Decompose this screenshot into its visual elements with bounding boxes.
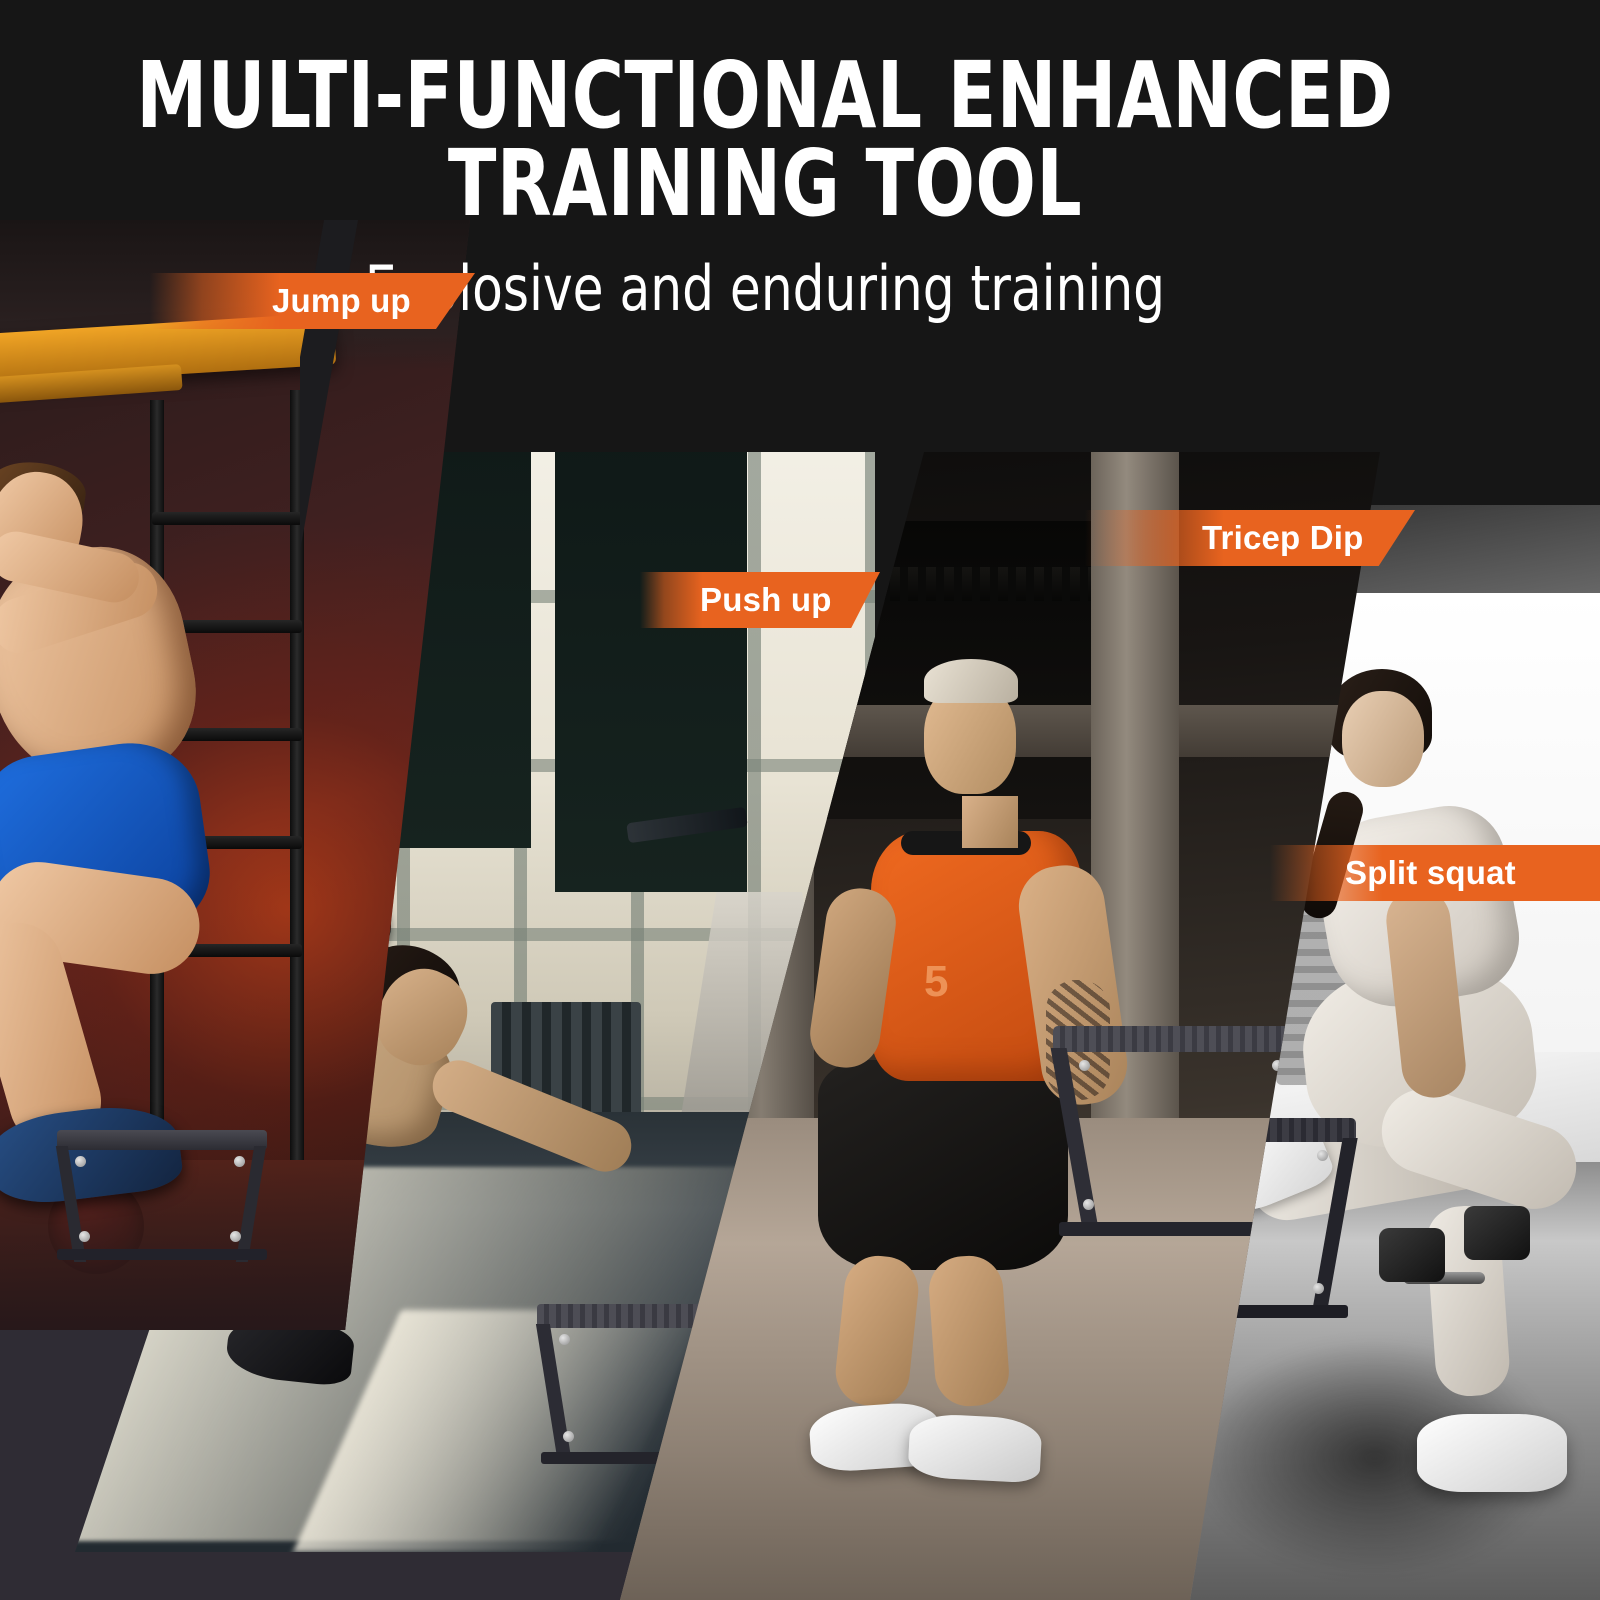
badge-label: Jump up bbox=[272, 282, 411, 320]
badge-tricep-dip: Tricep Dip bbox=[1085, 510, 1415, 566]
badge-split-squat: Split squat bbox=[1270, 845, 1600, 901]
marketing-banner: 5 bbox=[0, 0, 1600, 1600]
title-line-2: TRAINING TOOL bbox=[107, 140, 1423, 228]
badge-label: Push up bbox=[700, 581, 832, 619]
badge-jump-up: Jump up bbox=[150, 273, 475, 329]
badge-push-up: Push up bbox=[640, 572, 880, 628]
product-plyo-box bbox=[57, 1130, 267, 1260]
page-title: MULTI-FUNCTIONAL ENHANCED TRAINING TOOL bbox=[107, 52, 1423, 229]
badge-label: Tricep Dip bbox=[1202, 519, 1364, 557]
badge-label: Split squat bbox=[1345, 854, 1516, 892]
